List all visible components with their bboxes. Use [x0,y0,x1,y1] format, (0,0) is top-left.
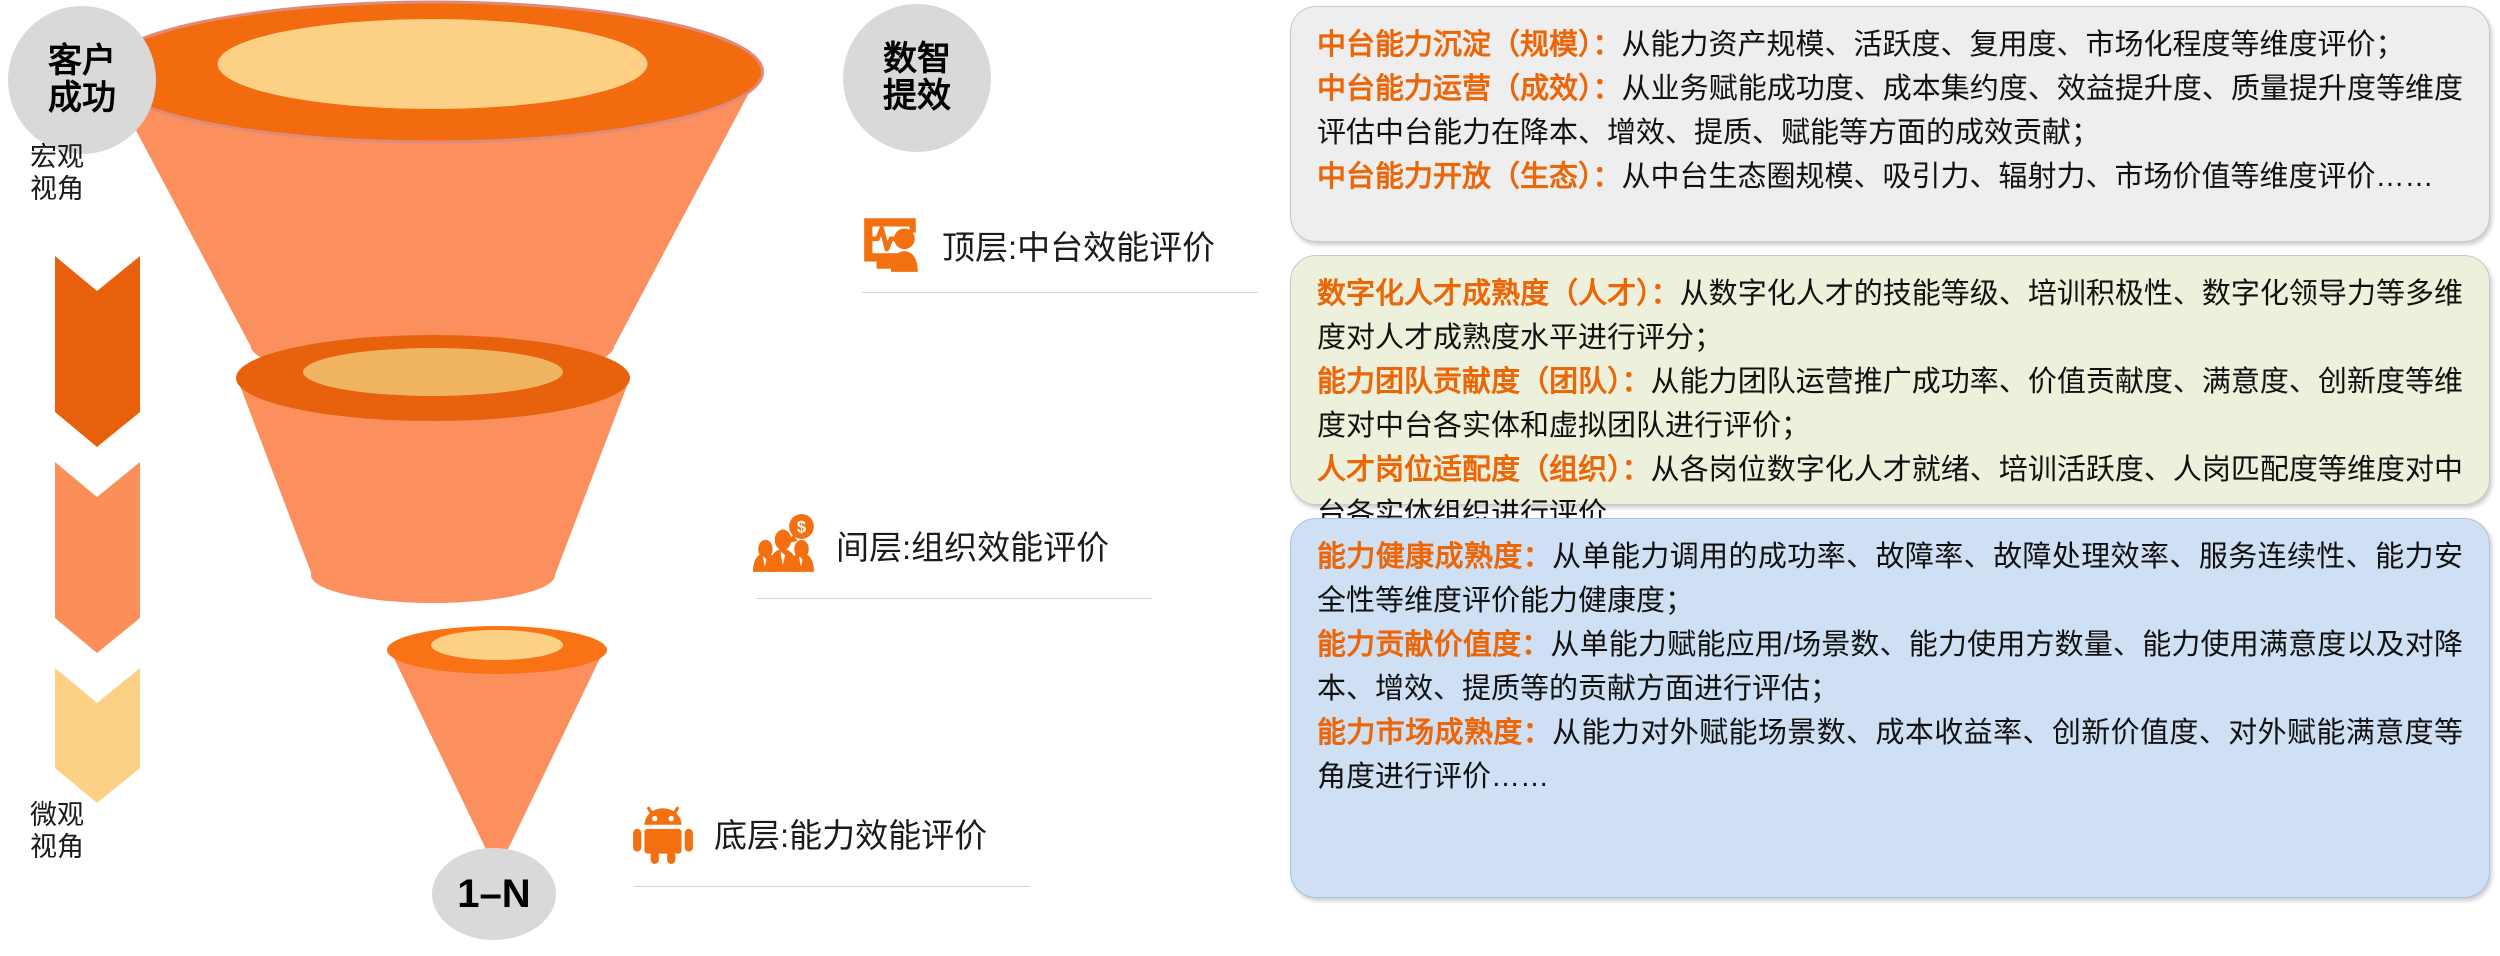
funnel-top-layer [103,2,763,383]
bubble-one-to-n-label: 1–N [457,872,530,916]
card-top-line-3: 中台能力开放（生态）：从中台生态圈规模、吸引力、辐射力、市场价值等维度评价…… [1317,155,2463,199]
monitor-chart-person-icon [858,212,924,278]
layer-rule-middle [756,598,1152,599]
card-mid-organization: 数字化人才成熟度（人才）：从数字化人才的技能等级、培训积极性、数字化领导力等多维… [1290,255,2490,505]
card-bottom-key-3: 能力市场成熟度： [1317,717,1552,749]
funnel-middle-layer [236,335,630,603]
bubble-one-to-n[interactable]: 1–N [432,848,556,940]
card-bottom-key-1: 能力健康成熟度： [1317,541,1552,573]
micro-perspective-label: 微观 视角 [22,800,92,864]
layer-rule-bottom [634,886,1030,887]
card-top-key-2: 中台能力运营（成效）： [1317,73,1622,105]
perspective-arrow-column [55,256,140,803]
android-robot-icon [630,800,696,866]
layer-caption-middle-label: 间层:组织效能评价 [836,521,1109,569]
bubble-digital-efficiency[interactable]: 数智 提效 [843,4,991,152]
card-top-text-1: 从能力资产规模、活跃度、复用度、市场化程度等维度评价； [1622,29,2405,61]
card-bottom-capability: 能力健康成熟度：从单能力调用的成功率、故障率、故障处理效率、服务连续性、能力安全… [1290,518,2490,898]
bubble-customer-success-label: 客户 成功 [48,43,116,118]
layer-rule-top [862,292,1258,293]
bubble-customer-success[interactable]: 客户 成功 [8,6,156,154]
description-cards: 中台能力沉淀（规模）：从能力资产规模、活跃度、复用度、市场化程度等维度评价； 中… [1290,6,2490,950]
card-bottom-line-1: 能力健康成熟度：从单能力调用的成功率、故障率、故障处理效率、服务连续性、能力安全… [1317,535,2463,623]
macro-perspective-label: 宏观 视角 [22,142,92,206]
card-mid-key-1: 数字化人才成熟度（人才）： [1317,278,1680,310]
card-bottom-line-3: 能力市场成熟度：从能力对外赋能场景数、成本收益率、创新价值度、对外赋能满意度等角… [1317,711,2463,799]
card-mid-line-2: 能力团队贡献度（团队）：从能力团队运营推广成功率、价值贡献度、满意度、创新度等维… [1317,360,2463,448]
team-money-icon: $ [752,512,818,578]
funnel-bottom-layer [387,626,607,872]
card-bottom-line-2: 能力贡献价值度：从单能力赋能应用/场景数、能力使用方数量、能力使用满意度以及对降… [1317,623,2463,711]
card-top-key-3: 中台能力开放（生态）： [1317,161,1622,193]
card-top-line-1: 中台能力沉淀（规模）：从能力资产规模、活跃度、复用度、市场化程度等维度评价； [1317,23,2463,67]
card-top-capability: 中台能力沉淀（规模）：从能力资产规模、活跃度、复用度、市场化程度等维度评价； 中… [1290,6,2490,242]
layer-caption-bottom: 底层:能力效能评价 [630,800,987,866]
card-mid-line-1: 数字化人才成熟度（人才）：从数字化人才的技能等级、培训积极性、数字化领导力等多维… [1317,272,2463,360]
card-mid-key-3: 人才岗位适配度（组织）： [1317,454,1651,486]
card-mid-key-2: 能力团队贡献度（团队）： [1317,366,1651,398]
card-top-line-2: 中台能力运营（成效）：从业务赋能成功度、成本集约度、效益提升度、质量提升度等维度… [1317,67,2463,155]
diagram-page: 客户 成功 数智 提效 1–N 宏观 视角 微观 视角 顶层:中台效 [0,0,2500,956]
layer-caption-bottom-label: 底层:能力效能评价 [714,809,987,857]
bubble-digital-efficiency-label: 数智 提效 [883,41,951,116]
layer-caption-middle: $ 间层:组织效能评价 [752,512,1109,578]
card-top-key-1: 中台能力沉淀（规模）： [1317,29,1622,61]
card-bottom-key-2: 能力贡献价值度： [1317,629,1550,661]
svg-text:$: $ [797,519,806,537]
funnel-diagram: 客户 成功 数智 提效 1–N 宏观 视角 微观 视角 顶层:中台效 [0,0,1270,956]
layer-caption-top: 顶层:中台效能评价 [858,212,1215,278]
card-top-text-3: 从中台生态圈规模、吸引力、辐射力、市场价值等维度评价…… [1622,161,2434,193]
layer-caption-top-label: 顶层:中台效能评价 [942,221,1215,269]
